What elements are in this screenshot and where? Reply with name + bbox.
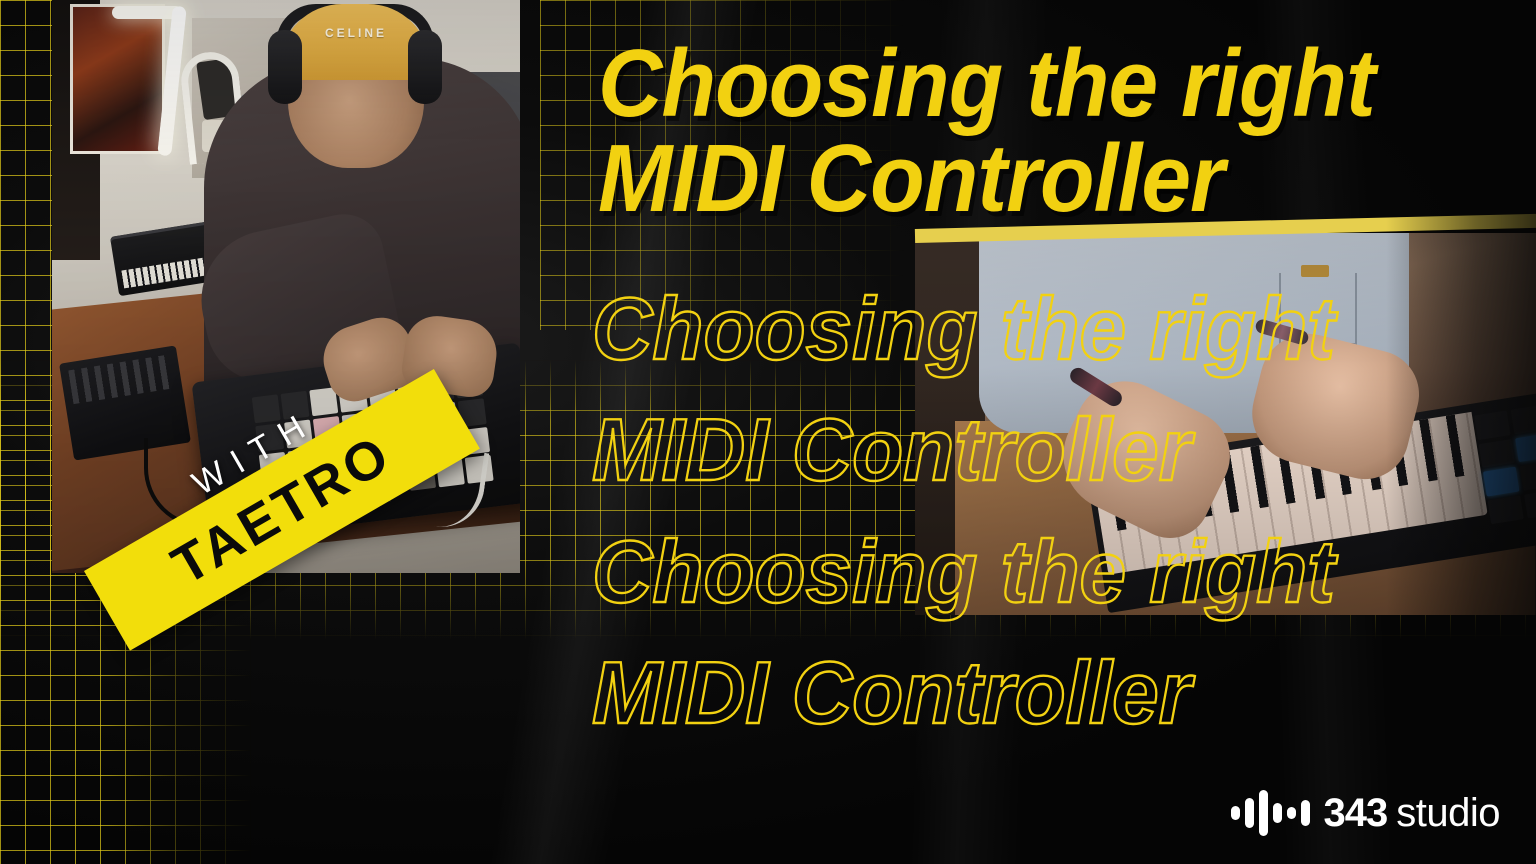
title-line-2: MIDI Controller bbox=[598, 131, 1435, 226]
outline-title-line-4: MIDI Controller bbox=[592, 632, 1476, 753]
page-title: Choosing the right MIDI Controller bbox=[598, 36, 1498, 226]
brand-logo-text: 343 studio bbox=[1324, 791, 1501, 836]
title-line-1: Choosing the right bbox=[598, 36, 1435, 131]
brand-logo-word: studio bbox=[1396, 791, 1500, 836]
brand-logo: 343 studio bbox=[1231, 790, 1501, 836]
thumbnail-canvas: CELINE Ableton bbox=[0, 0, 1536, 864]
outline-title-stack: Choosing the right MIDI Controller Choos… bbox=[592, 268, 1522, 754]
brand-logo-number: 343 bbox=[1324, 791, 1388, 836]
outline-title-line-1: Choosing the right bbox=[592, 268, 1476, 389]
outline-title-line-2: MIDI Controller bbox=[592, 389, 1476, 510]
audio-waveform-icon bbox=[1231, 790, 1310, 836]
outline-title-line-3: Choosing the right bbox=[592, 511, 1476, 632]
